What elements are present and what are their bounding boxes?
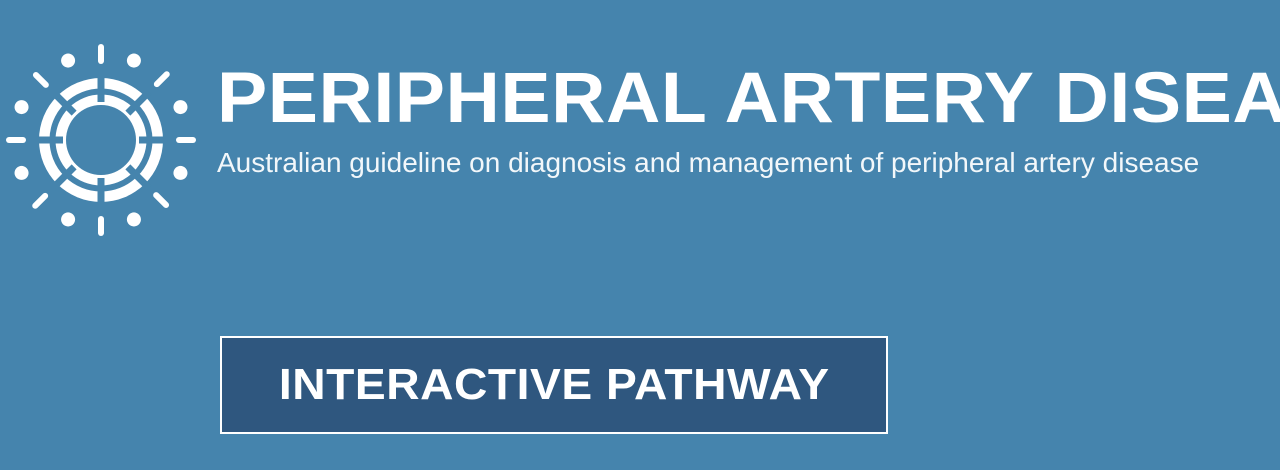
artery-cross-section-sun-icon (6, 42, 196, 238)
title-block: PERIPHERAL ARTERY DISEASE Australian gui… (217, 62, 1277, 180)
interactive-pathway-button[interactable]: INTERACTIVE PATHWAY (220, 336, 888, 434)
page-title: PERIPHERAL ARTERY DISEASE (217, 62, 1280, 136)
logo (6, 42, 196, 238)
interactive-pathway-button-inner: INTERACTIVE PATHWAY (222, 338, 886, 432)
interactive-pathway-button-label: INTERACTIVE PATHWAY (279, 363, 830, 407)
page-subtitle: Australian guideline on diagnosis and ma… (217, 136, 1227, 180)
hero-banner: PERIPHERAL ARTERY DISEASE Australian gui… (0, 0, 1280, 470)
